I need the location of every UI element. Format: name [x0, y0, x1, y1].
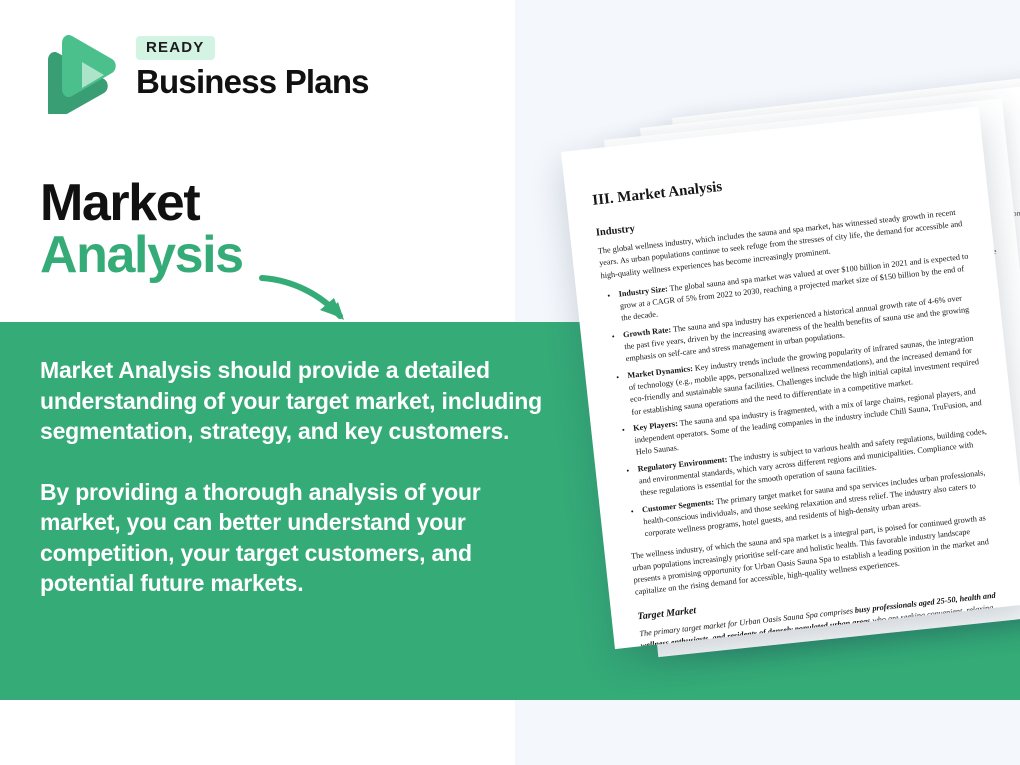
document-bullet-label: Industry Size:: [618, 284, 668, 298]
description-block: Market Analysis should provide a detaile…: [40, 355, 560, 599]
description-paragraph-2: By providing a thorough analysis of your…: [40, 477, 495, 599]
description-paragraph-1: Market Analysis should provide a detaile…: [40, 355, 560, 447]
poster-canvas: READY Business Plans Market Analysis Mar…: [0, 0, 1020, 765]
document-content: III. Market Analysis Industry The global…: [561, 107, 1020, 649]
document-bullet-label: Growth Rate:: [623, 325, 672, 339]
document-bullet-list: Industry Size: The global sauna and spa …: [602, 251, 995, 543]
document-bullet-label: Market Dynamics:: [627, 364, 693, 380]
document-page-front[interactable]: III. Market Analysis Industry The global…: [561, 107, 1020, 649]
document-bullet-label: Customer Segments:: [642, 497, 715, 514]
document-bullet-label: Key Players:: [633, 419, 679, 433]
